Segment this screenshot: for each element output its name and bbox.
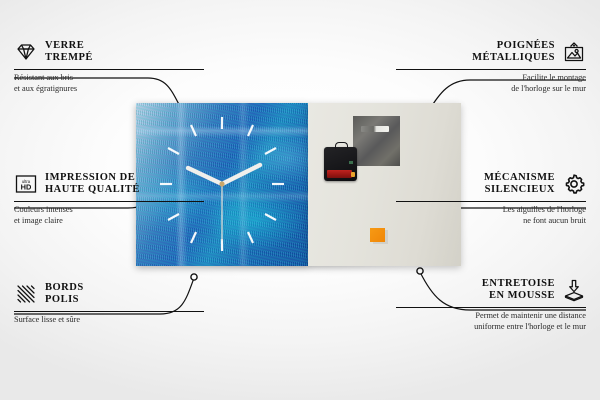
- hour-marker: [248, 232, 253, 243]
- mechanism-indicator: [349, 161, 353, 164]
- picture-hanger-icon: [562, 40, 586, 64]
- feature-description: Permet de maintenir une distanceuniforme…: [396, 311, 586, 333]
- infographic-canvas: VERRETREMPÉ Résistant aux briset aux égr…: [0, 0, 600, 400]
- clock-hand-hour: [188, 168, 222, 184]
- feature-rule: [14, 311, 204, 312]
- foam-spacer-icon: [562, 278, 586, 302]
- feature-description: Les aiguilles de l'horlogene font aucun …: [396, 205, 586, 227]
- feature-title: VERRETREMPÉ: [45, 40, 93, 65]
- polished-edge-icon: [14, 282, 38, 306]
- feature-title: ENTRETOISEEN MOUSSE: [482, 278, 555, 303]
- svg-text:HD: HD: [21, 183, 32, 192]
- connector-dot-bords-polis: [191, 274, 197, 280]
- hanger-slot: [361, 126, 389, 132]
- feature-description: Résistant aux briset aux égratignures: [14, 73, 204, 95]
- foam-spacer: [370, 228, 385, 242]
- feature-mecanisme-silencieux: MÉCANISMESILENCIEUX Les aiguilles de l'h…: [396, 172, 586, 227]
- battery-terminal: [351, 172, 355, 177]
- feature-rule: [396, 201, 586, 202]
- feature-bords-polis: BORDSPOLIS Surface lisse et sûre: [14, 282, 204, 326]
- feature-title: POIGNÉESMÉTALLIQUES: [472, 40, 555, 65]
- feature-verre-trempe: VERRETREMPÉ Résistant aux briset aux égr…: [14, 40, 204, 95]
- clock-center-cap: [219, 181, 224, 186]
- diamond-icon: [14, 40, 38, 64]
- hour-marker: [248, 125, 253, 136]
- feature-poignees-metalliques: POIGNÉESMÉTALLIQUES Facilite le montaged…: [396, 40, 586, 95]
- feature-title: IMPRESSION DEHAUTE QUALITÉ: [45, 172, 140, 197]
- ultra-hd-icon: ultra HD: [14, 172, 38, 196]
- gear-icon: [562, 172, 586, 196]
- feature-title: BORDSPOLIS: [45, 282, 84, 307]
- hour-marker: [265, 214, 276, 220]
- battery: [327, 170, 352, 178]
- feature-rule: [396, 69, 586, 70]
- quartz-mechanism: [324, 147, 357, 181]
- feature-header: MÉCANISMESILENCIEUX: [396, 172, 586, 197]
- clock-front-panel: [136, 103, 308, 266]
- hour-marker: [168, 214, 179, 220]
- feature-header: VERRETREMPÉ: [14, 40, 204, 65]
- feature-header: BORDSPOLIS: [14, 282, 204, 307]
- feature-entretoise-en-mousse: ENTRETOISEEN MOUSSE Permet de maintenir …: [396, 278, 586, 333]
- clock-dial: [136, 103, 308, 266]
- hour-marker: [191, 232, 196, 243]
- feature-rule: [396, 307, 586, 308]
- feature-description: Facilite le montagede l'horloge sur le m…: [396, 73, 586, 95]
- feature-rule: [14, 69, 204, 70]
- feature-title: MÉCANISMESILENCIEUX: [484, 172, 555, 197]
- hour-marker: [168, 148, 179, 154]
- feature-description: Surface lisse et sûre: [14, 315, 204, 326]
- metal-hanger: [353, 116, 400, 166]
- feature-header: POIGNÉESMÉTALLIQUES: [396, 40, 586, 65]
- feature-header: ENTRETOISEEN MOUSSE: [396, 278, 586, 303]
- hour-marker: [191, 125, 196, 136]
- hour-marker: [265, 148, 276, 154]
- mechanism-hook: [335, 142, 348, 149]
- clock-hand-minute: [222, 165, 260, 184]
